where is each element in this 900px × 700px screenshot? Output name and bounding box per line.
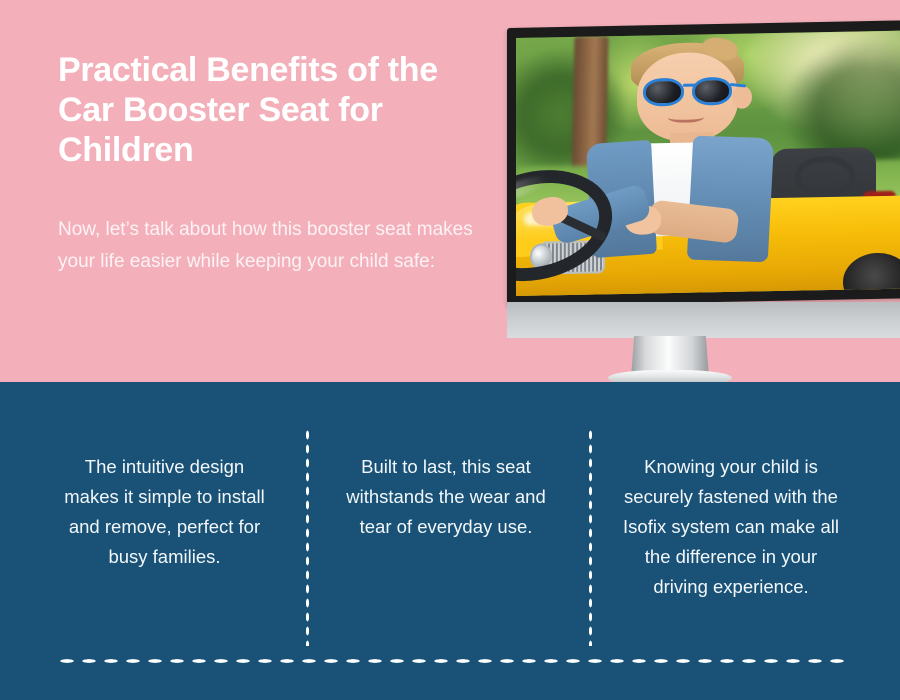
dotted-divider-horizontal	[56, 658, 852, 664]
denim-jacket-right	[687, 136, 774, 262]
toy-car-seat-handle	[795, 155, 856, 195]
photo-boy-in-toy-car	[516, 30, 900, 296]
page-subtitle: Now, let’s talk about how this booster s…	[58, 214, 478, 278]
monitor-chin	[507, 302, 900, 338]
page-title: Practical Benefits of the Car Booster Se…	[58, 50, 478, 170]
sunglasses-left-lens	[643, 77, 683, 106]
sunglasses-bridge	[683, 84, 696, 87]
dotted-divider-vertical-1	[305, 428, 310, 646]
monitor-screen	[516, 30, 900, 296]
sunglasses-right-lens	[692, 76, 732, 105]
header-panel: Practical Benefits of the Car Booster Se…	[0, 0, 900, 382]
dotted-divider-vertical-2	[588, 428, 593, 646]
monitor-stand-base	[608, 370, 732, 382]
monitor-illustration	[500, 18, 900, 380]
benefit-item-easy-install: The intuitive design makes it simple to …	[57, 452, 272, 572]
benefit-item-isofix-safety: Knowing your child is securely fastened …	[620, 452, 842, 602]
benefit-item-durability: Built to last, this seat withstands the …	[340, 452, 552, 542]
